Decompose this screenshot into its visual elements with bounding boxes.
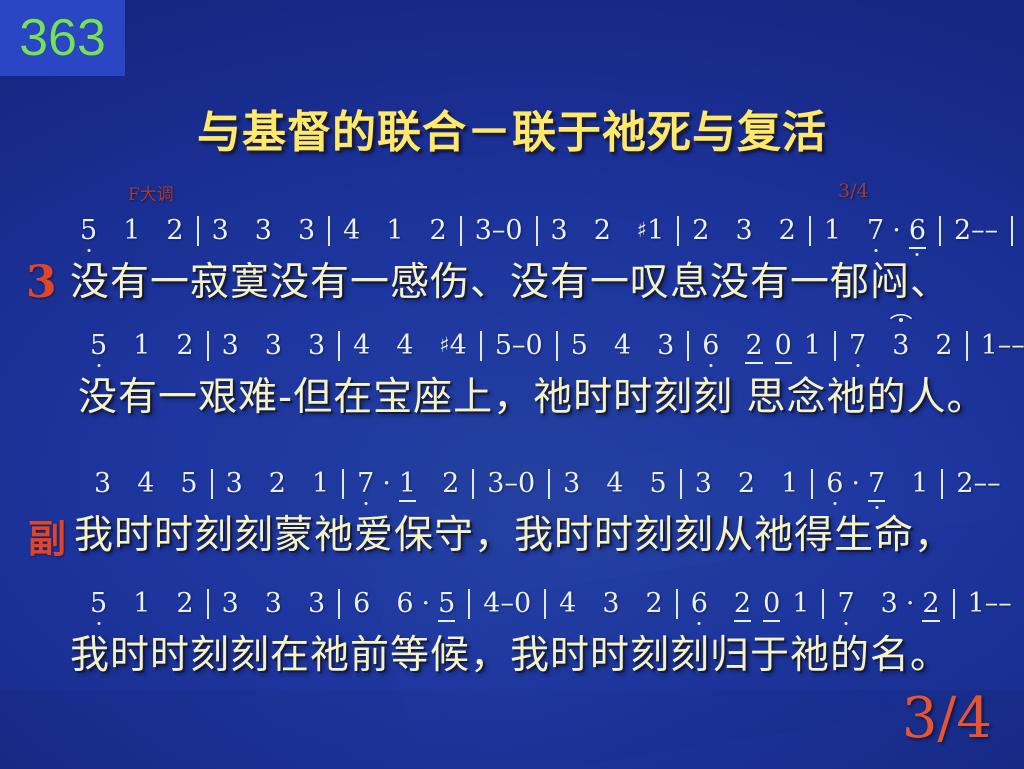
time-signature-top: 3/4 — [838, 180, 869, 202]
notation-line-2: 51233344♯45–054362017321–– — [84, 330, 1008, 364]
hymn-number: 363 — [19, 12, 106, 64]
hymn-title: 与基督的联合－联于祂死与复活 — [0, 96, 1024, 160]
verse-marker: 3 — [26, 257, 57, 308]
background-swoosh-3 — [0, 690, 1024, 769]
notation-line-4: 51233366·54–0432620173·21–– — [84, 588, 1008, 626]
lyrics-line-4: 我时时刻刻在祂前等候，我时时刻刻归于祂的名。 — [70, 624, 1014, 680]
lyrics-line-3: 我时时刻刻蒙祂爱保守，我时时刻刻从祂得生命， — [74, 504, 1014, 560]
chorus-marker: 副 — [28, 508, 66, 563]
notation-line-1: 5123334123–032♯123217·62–– — [74, 215, 1008, 249]
notation-line-3: 3453217·123–03453216·712–– — [88, 468, 1008, 502]
lyrics-line-1: 没有一寂寞没有一感伤、没有一叹息没有一郁闷、 — [70, 251, 1014, 307]
key-signature: F大调 — [128, 180, 174, 205]
lyrics-line-2: 没有一艰难-但在宝座上，祂时时刻刻 思念祂的人。 — [78, 366, 1014, 422]
hymn-slide: 363 与基督的联合－联于祂死与复活 F大调 3/4 3 5123334123–… — [0, 0, 1024, 769]
time-signature-corner: 3/4 — [902, 686, 992, 751]
hymn-number-box: 363 — [0, 0, 125, 76]
